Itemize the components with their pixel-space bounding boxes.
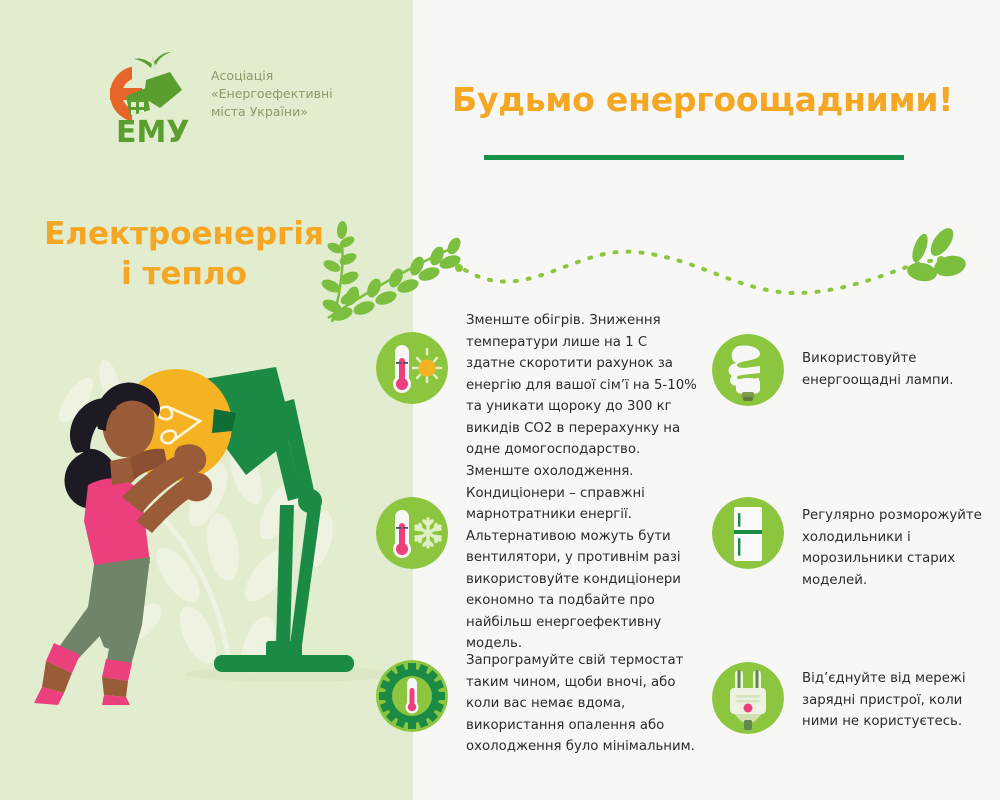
section-heading: Електроенергія і тепло (14, 215, 354, 294)
tip-text: Регулярно розморожуйте холодильники і мо… (802, 497, 998, 591)
leafy-branch-small-icon (900, 228, 980, 298)
tip-text: Використовуйте енергоощадні лампи. (802, 334, 998, 391)
dotted-wave-line-icon (455, 240, 945, 300)
emu-leaf-house-logo-icon: ЕМУ (86, 50, 206, 145)
section-heading-line-1: Електроенергія (14, 215, 354, 255)
tip-row: Використовуйте енергоощадні лампи. (712, 334, 1000, 406)
title-underline-rule (484, 155, 904, 160)
tip-row: Регулярно розморожуйте холодильники і мо… (712, 497, 1000, 591)
tip-row: Запрограмуйте свій термостат таким чином… (376, 660, 706, 758)
tip-text: Зменште охолодження. Кондиціонери – спра… (466, 461, 698, 655)
svg-text:ЕМУ: ЕМУ (116, 115, 189, 145)
logo-text-block: Асоціація «Енергоефективні міста України… (211, 67, 351, 120)
logo-text-line-2: «Енергоефективні (211, 85, 351, 103)
power-plug-icon (712, 662, 784, 734)
tip-text: Запрограмуйте свій термостат таким чином… (466, 650, 698, 758)
section-heading-line-2: і тепло (14, 255, 354, 295)
thermometer-snowflake-icon (376, 497, 448, 569)
page-title: Будьмо енергоощадними! (452, 80, 972, 119)
tip-row: Зменште охолодження. Кондиціонери – спра… (376, 497, 706, 655)
gear-thermostat-icon (376, 660, 448, 732)
tip-row: Від’єднуйте від мережі зарядні пристрої,… (712, 662, 1000, 734)
refrigerator-icon (712, 497, 784, 569)
association-logo: ЕМУ Асоціація «Енергоефективні міста Укр… (86, 50, 346, 145)
logo-text-line-3: міста України» (211, 103, 351, 121)
woman-installing-lightbulb-illustration (18, 325, 408, 705)
tip-text: Від’єднуйте від мережі зарядні пристрої,… (802, 662, 998, 733)
cfl-bulb-icon (712, 334, 784, 406)
thermometer-sun-icon (376, 332, 448, 404)
logo-text-line-1: Асоціація (211, 67, 351, 85)
infographic-poster: ЕМУ Асоціація «Енергоефективні міста Укр… (0, 0, 1000, 800)
tip-row: Зменште обігрів. Зниження температури ли… (376, 332, 706, 461)
tip-text: Зменште обігрів. Зниження температури ли… (466, 310, 698, 461)
